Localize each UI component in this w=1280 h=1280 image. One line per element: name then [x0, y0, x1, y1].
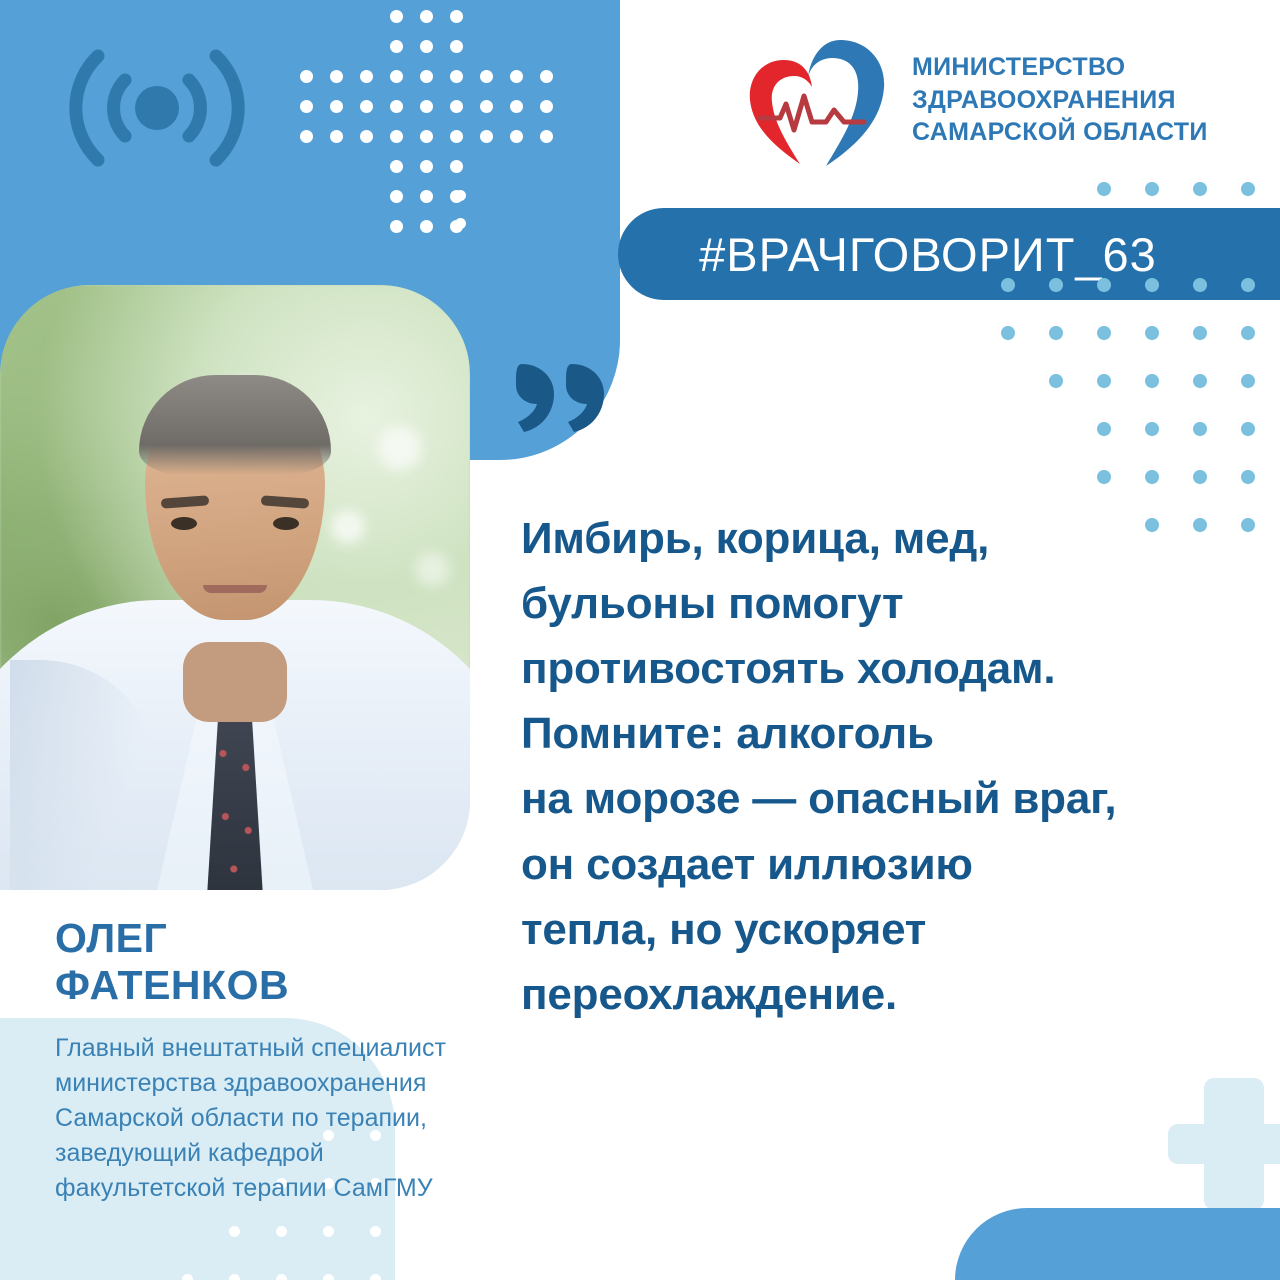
broadcast-signal-icon	[62, 38, 252, 178]
pattern-dot	[510, 70, 523, 83]
pattern-dot	[1193, 278, 1207, 292]
pattern-dot	[390, 190, 403, 203]
hashtag-label: #ВРАЧГОВОРИТ_63	[699, 227, 1199, 282]
pattern-dot	[330, 100, 343, 113]
quote-text: Имбирь, корица, мед, бульоны помогут про…	[521, 506, 1261, 1027]
pattern-dot	[480, 70, 493, 83]
poster-canvas: МИНИСТЕРСТВО ЗДРАВООХРАНЕНИЯ САМАРСКОЙ О…	[0, 0, 1280, 1280]
pattern-dot	[300, 70, 313, 83]
pattern-dot	[1193, 374, 1207, 388]
pattern-dot	[390, 10, 403, 23]
pattern-dot	[1097, 422, 1111, 436]
pattern-dot	[229, 1226, 240, 1237]
pattern-dot	[450, 10, 463, 23]
pattern-dot	[1241, 278, 1255, 292]
pattern-dot	[330, 70, 343, 83]
pattern-dot	[1145, 278, 1159, 292]
pattern-dot	[1145, 326, 1159, 340]
pattern-dot	[229, 1274, 240, 1280]
pattern-dot	[390, 220, 403, 233]
pattern-dot	[370, 1226, 381, 1237]
pattern-dot	[1049, 278, 1063, 292]
neck	[183, 642, 287, 722]
ministry-logo-text: МИНИСТЕРСТВО ЗДРАВООХРАНЕНИЯ САМАРСКОЙ О…	[912, 51, 1208, 149]
pattern-dot	[450, 160, 463, 173]
pattern-dot	[1241, 326, 1255, 340]
pattern-dot	[276, 1274, 287, 1280]
pattern-dot	[390, 160, 403, 173]
pattern-dot	[417, 1226, 428, 1237]
pattern-dot	[276, 1226, 287, 1237]
pattern-dot	[540, 70, 553, 83]
pattern-dot	[330, 130, 343, 143]
pattern-dot	[450, 40, 463, 53]
pattern-dot	[540, 130, 553, 143]
pattern-dot	[1145, 422, 1159, 436]
necktie-pattern	[205, 715, 265, 890]
pattern-dot	[1241, 470, 1255, 484]
pattern-dot	[420, 160, 433, 173]
right-eye	[273, 517, 299, 530]
pattern-dot	[390, 70, 403, 83]
pattern-dot	[390, 100, 403, 113]
pattern-dot	[1049, 374, 1063, 388]
ministry-logo: МИНИСТЕРСТВО ЗДРАВООХРАНЕНИЯ САМАРСКОЙ О…	[740, 30, 1208, 170]
pattern-dot	[1097, 470, 1111, 484]
pattern-dot	[1241, 182, 1255, 196]
doctor-portrait-photo	[0, 285, 470, 890]
pattern-dot	[420, 100, 433, 113]
pattern-dot	[1241, 422, 1255, 436]
pattern-dot	[420, 10, 433, 23]
pattern-dot	[360, 100, 373, 113]
pattern-dot	[1193, 470, 1207, 484]
pattern-dot	[323, 1226, 334, 1237]
pattern-dot	[1049, 326, 1063, 340]
pattern-dot	[300, 130, 313, 143]
pattern-dot	[1097, 374, 1111, 388]
pattern-dot	[370, 1274, 381, 1280]
pattern-dot	[510, 100, 523, 113]
pattern-dot	[420, 130, 433, 143]
dotted-cross-pattern	[300, 0, 570, 240]
pattern-dot	[1241, 374, 1255, 388]
pattern-dot	[390, 130, 403, 143]
pattern-dot	[1193, 326, 1207, 340]
pattern-dot	[1001, 326, 1015, 340]
hashtag-banner: #ВРАЧГОВОРИТ_63	[618, 208, 1280, 300]
pattern-dot	[182, 1274, 193, 1280]
mouth	[203, 585, 267, 593]
pattern-dot	[450, 130, 463, 143]
pattern-dot	[1193, 422, 1207, 436]
bottom-right-blue-shape	[955, 1208, 1280, 1280]
pattern-dot	[420, 220, 433, 233]
pattern-dot	[420, 40, 433, 53]
pattern-dot	[417, 1274, 428, 1280]
pattern-dot	[480, 100, 493, 113]
pattern-dot	[1145, 374, 1159, 388]
pattern-dot	[510, 130, 523, 143]
medical-cross-icon	[1168, 1078, 1280, 1210]
heart-ecg-icon	[740, 30, 890, 170]
pattern-dot	[360, 70, 373, 83]
pattern-dot	[420, 190, 433, 203]
pattern-dot	[1097, 278, 1111, 292]
pattern-dot	[360, 130, 373, 143]
pattern-dot	[1145, 470, 1159, 484]
pattern-dot	[1097, 182, 1111, 196]
pattern-dot	[1145, 182, 1159, 196]
person-name: ОЛЕГ ФАТЕНКОВ	[55, 915, 289, 1008]
pattern-dot	[450, 70, 463, 83]
quotation-mark-icon	[514, 362, 610, 434]
pattern-dot	[1001, 278, 1015, 292]
pattern-dot	[480, 130, 493, 143]
pattern-dot	[300, 100, 313, 113]
person-bio: Главный внештатный специалист министерст…	[55, 1031, 515, 1206]
left-eye	[171, 517, 197, 530]
pattern-dot	[323, 1274, 334, 1280]
pattern-dot	[1193, 182, 1207, 196]
pattern-dot	[450, 100, 463, 113]
pattern-dot	[1097, 326, 1111, 340]
pattern-dot	[540, 100, 553, 113]
pattern-dot	[420, 70, 433, 83]
pattern-dot	[390, 40, 403, 53]
